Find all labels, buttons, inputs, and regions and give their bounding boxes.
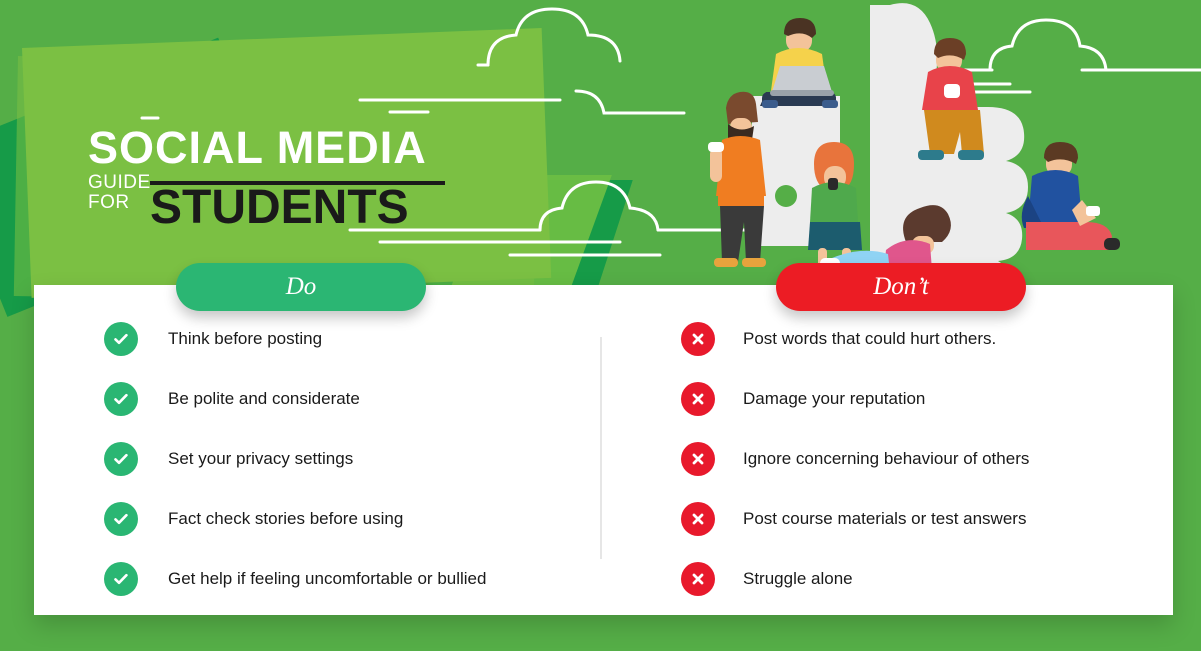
do-header-label: Do [286, 273, 317, 301]
title-block: SOCIAL MEDIA GUIDE FOR STUDENTS [88, 125, 468, 230]
list-item: Set your privacy settings [104, 442, 584, 476]
title-students: STUDENTS [150, 186, 468, 230]
cross-icon [681, 502, 715, 536]
check-icon [104, 442, 138, 476]
list-item-label: Think before posting [168, 329, 322, 349]
check-icon [104, 502, 138, 536]
figure-man-orange [708, 92, 766, 267]
check-icon [104, 382, 138, 416]
dont-header-pill[interactable]: Don’t [776, 263, 1026, 311]
list-item-label: Struggle alone [743, 569, 853, 589]
cross-icon [681, 322, 715, 356]
list-item: Struggle alone [681, 562, 1151, 596]
list-item-label: Set your privacy settings [168, 449, 353, 469]
dont-header-label: Don’t [873, 273, 929, 301]
cross-icon [681, 442, 715, 476]
title-for-label: FOR [88, 193, 150, 213]
do-list: Think before posting Be polite and consi… [104, 322, 584, 622]
list-item: Ignore concerning behaviour of others [681, 442, 1151, 476]
list-item: Post course materials or test answers [681, 502, 1151, 536]
cross-icon [681, 562, 715, 596]
students-illustration [700, 0, 1120, 275]
list-item: Fact check stories before using [104, 502, 584, 536]
column-divider [600, 337, 602, 559]
check-icon [104, 562, 138, 596]
list-item-label: Post course materials or test answers [743, 509, 1026, 529]
dont-list: Post words that could hurt others. Damag… [681, 322, 1151, 622]
infographic-canvas: SOCIAL MEDIA GUIDE FOR STUDENTS Do Don’t… [0, 0, 1201, 651]
list-item: Think before posting [104, 322, 584, 356]
page-title: SOCIAL MEDIA [88, 125, 468, 170]
green-dot [775, 185, 797, 207]
list-item: Post words that could hurt others. [681, 322, 1151, 356]
figure-man-yellow [760, 18, 838, 108]
list-item-label: Post words that could hurt others. [743, 329, 996, 349]
do-header-pill[interactable]: Do [176, 263, 426, 311]
list-item: Damage your reputation [681, 382, 1151, 416]
list-item-label: Fact check stories before using [168, 509, 403, 529]
list-item: Get help if feeling uncomfortable or bul… [104, 562, 584, 596]
list-item-label: Damage your reputation [743, 389, 925, 409]
check-icon [104, 322, 138, 356]
list-item: Be polite and considerate [104, 382, 584, 416]
list-item-label: Ignore concerning behaviour of others [743, 449, 1029, 469]
figure-man-blue [1022, 142, 1120, 250]
list-item-label: Get help if feeling uncomfortable or bul… [168, 569, 486, 589]
cross-icon [681, 382, 715, 416]
list-item-label: Be polite and considerate [168, 389, 360, 409]
title-guide-label: GUIDE [88, 173, 150, 193]
